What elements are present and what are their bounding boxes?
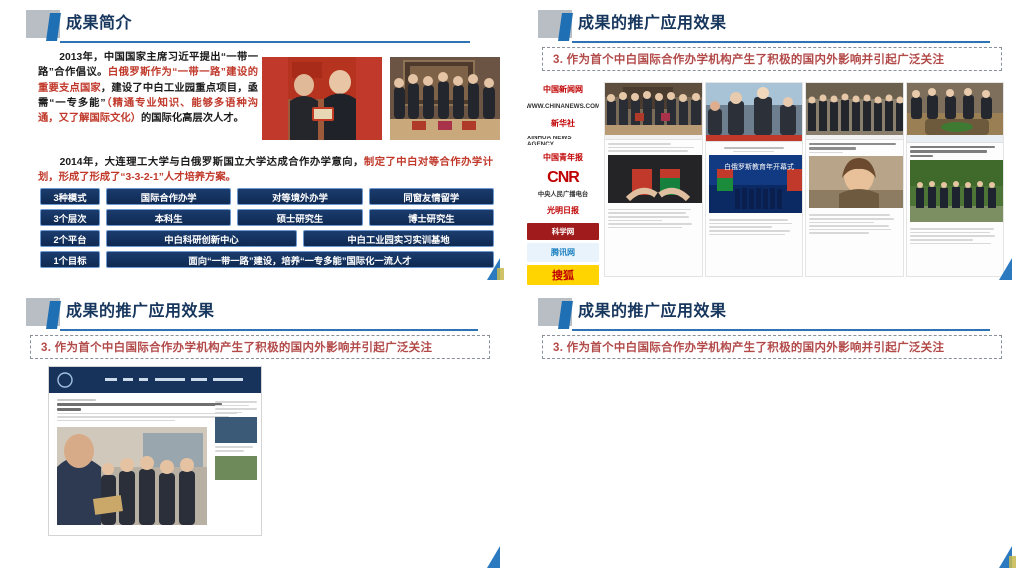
news-clipping-1 xyxy=(604,82,703,277)
news-text-lines-3b xyxy=(806,211,903,234)
news-text-lines-4b xyxy=(907,225,1004,244)
header-rule xyxy=(572,329,990,331)
news-thumb-1-svg xyxy=(608,155,703,203)
subtitle-text: 3. 作为首个中白国际合作办学机构产生了积极的国内外影响并引起广泛关注 xyxy=(543,339,944,355)
cell-mode-3: 同窗友情留学 xyxy=(369,188,494,205)
bsu-website-screenshot xyxy=(48,366,262,536)
corner-arrow-decoration xyxy=(988,542,1018,572)
news-thumb-2-svg: 白俄罗斯教育年开幕式 xyxy=(709,155,804,213)
row-label-goal: 1个目标 xyxy=(40,251,100,268)
slide-4-header: 成果的推广应用效果 xyxy=(512,288,1024,330)
website-navbar xyxy=(49,367,261,393)
logo-cnr: CNR xyxy=(527,170,599,186)
photo-signing-ceremony-svg xyxy=(390,57,500,140)
news-photo-2-svg xyxy=(706,83,804,135)
row-label-platforms: 2个平台 xyxy=(40,230,100,247)
news-clipping-2: 白俄罗斯教育年开幕式 xyxy=(705,82,804,277)
slide-2-header: 成果的推广应用效果 xyxy=(512,0,1024,42)
bsu-visit-photo-svg xyxy=(57,427,207,525)
logo-china-news-label: 中国新闻网 xyxy=(543,84,583,95)
logo-china-youth-daily-label: 中国青年报 xyxy=(543,152,583,163)
news-text-lines-2 xyxy=(706,142,803,152)
news-clippings-grid: 白俄罗斯教育年开幕式 xyxy=(604,82,1004,277)
slide-4: 成果的推广应用效果 3. 作为首个中白国际合作办学机构产生了积极的国内外影响并引… xyxy=(512,288,1024,576)
corner-accent-icon xyxy=(497,268,504,280)
table-row: 3个层次 本科生 硕士研究生 博士研究生 xyxy=(40,209,500,226)
row-label-levels: 3个层次 xyxy=(40,209,100,226)
news-text-lines-3 xyxy=(806,140,903,153)
cell-goal-1: 面向“一带一路”建设，培养“一专多能”国际化一流人才 xyxy=(106,251,494,268)
cell-platform-1: 中白科研创新中心 xyxy=(106,230,297,247)
news-thumb-4 xyxy=(910,160,1001,222)
corner-arrow-decoration xyxy=(476,542,506,572)
bsu-visit-photo xyxy=(57,427,207,525)
news-browser-bar-4 xyxy=(907,135,1004,143)
news-photo-2 xyxy=(706,83,803,135)
slide-deck: 成果简介 2013年，中国国家主席习近平提出“一带一路”合作倡议。白俄罗斯作为“… xyxy=(0,0,1024,576)
slide-2: 成果的推广应用效果 3. 作为首个中白国际合作办学机构产生了积极的国内外影响并引… xyxy=(512,0,1024,288)
news-text-lines-4 xyxy=(907,143,1004,157)
subtitle-box: 3. 作为首个中白国际合作办学机构产生了积极的国内外影响并引起广泛关注 xyxy=(542,335,1002,359)
para1-seg4: 的国际化高层次人才。 xyxy=(141,113,244,124)
header-rule xyxy=(572,41,990,43)
slide-1: 成果简介 2013年，中国国家主席习近平提出“一带一路”合作倡议。白俄罗斯作为“… xyxy=(0,0,512,288)
photo-xi-lukashenko-svg xyxy=(262,57,382,140)
intro-paragraph-2: 2014年，大连理工大学与白俄罗斯国立大学达成合作办学意向，制定了中白对等合作办… xyxy=(38,155,493,186)
subtitle-text: 3. 作为首个中白国际合作办学机构产生了积极的国内外影响并引起广泛关注 xyxy=(543,51,944,67)
website-navbar-svg xyxy=(49,367,261,393)
news-photo-3 xyxy=(806,83,903,135)
logo-tencent: 腾讯网 xyxy=(527,243,599,262)
svg-text:白俄罗斯教育年开幕式: 白俄罗斯教育年开幕式 xyxy=(724,162,794,171)
news-photo-1-svg xyxy=(605,83,703,135)
slide-3-header: 成果的推广应用效果 xyxy=(0,288,512,330)
page-title: 成果的推广应用效果 xyxy=(578,297,727,321)
logo-china-news: 中国新闻网 xyxy=(527,80,599,99)
corner-accent-icon xyxy=(1009,556,1016,568)
cell-level-1: 本科生 xyxy=(106,209,231,226)
logo-guangming-daily: 光明日报 xyxy=(527,201,599,220)
news-text-lines-1 xyxy=(605,140,702,152)
talent-plan-table: 3种模式 国际合作办学 对等境外办学 同窗友情留学 3个层次 本科生 硕士研究生… xyxy=(40,188,500,272)
subtitle-text: 3. 作为首个中白国际合作办学机构产生了积极的国内外影响并引起广泛关注 xyxy=(31,339,432,355)
logo-cnr-sub: 中央人民广播电台 xyxy=(527,189,599,198)
page-title: 成果简介 xyxy=(66,9,132,33)
logo-china-news-sub: WWW.CHINANEWS.COM xyxy=(527,102,599,111)
website-sidebar xyxy=(215,401,257,484)
header-rule xyxy=(60,41,470,43)
intro-paragraph-1: 2013年，中国国家主席习近平提出“一带一路”合作倡议。白俄罗斯作为“一带一路”… xyxy=(38,50,258,126)
cell-level-2: 硕士研究生 xyxy=(237,209,362,226)
cell-platform-2: 中白工业园实习实训基地 xyxy=(303,230,494,247)
logo-xinhua: 新华社 xyxy=(527,114,599,133)
news-photo-4 xyxy=(907,83,1004,135)
table-row: 1个目标 面向“一带一路”建设，培养“一专多能”国际化一流人才 xyxy=(40,251,500,268)
news-text-lines-2b xyxy=(706,216,803,235)
subtitle-box: 3. 作为首个中白国际合作办学机构产生了积极的国内外影响并引起广泛关注 xyxy=(30,335,490,359)
cell-level-3: 博士研究生 xyxy=(369,209,494,226)
logo-xinhua-label: 新华社 xyxy=(551,118,575,129)
news-clipping-4 xyxy=(906,82,1005,277)
news-thumb-1 xyxy=(608,155,699,203)
logo-china-youth-daily: 中国青年报 xyxy=(527,148,599,167)
logo-xinhua-sub: XINHUA NEWS AGENCY xyxy=(527,136,599,145)
para2-seg0: 2014年，大连理工大学与白俄罗斯国立大学达成合作办学意向， xyxy=(38,157,364,168)
header-rule xyxy=(60,329,478,331)
corner-triangle-icon xyxy=(999,258,1012,280)
page-title: 成果的推广应用效果 xyxy=(578,9,727,33)
news-clipping-3 xyxy=(805,82,904,277)
row-label-modes: 3种模式 xyxy=(40,188,100,205)
page-title: 成果的推广应用效果 xyxy=(66,297,215,321)
logo-sciencenet: 科学网 xyxy=(527,223,599,240)
news-thumb-4-svg xyxy=(910,160,1005,222)
cell-mode-2: 对等境外办学 xyxy=(237,188,362,205)
subtitle-box: 3. 作为首个中白国际合作办学机构产生了积极的国内外影响并引起广泛关注 xyxy=(542,47,1002,71)
cell-mode-1: 国际合作办学 xyxy=(106,188,231,205)
slide-3: 成果的推广应用效果 3. 作为首个中白国际合作办学机构产生了积极的国内外影响并引… xyxy=(0,288,512,576)
photo-signing-ceremony xyxy=(390,57,500,140)
news-thumb-2: 白俄罗斯教育年开幕式 xyxy=(709,155,800,213)
news-text-lines-1b xyxy=(605,206,702,229)
news-photo-4-svg xyxy=(907,83,1005,135)
news-thumb-3-svg xyxy=(809,156,904,208)
news-photo-1 xyxy=(605,83,702,135)
news-photo-3-svg xyxy=(806,83,904,135)
corner-arrow-decoration xyxy=(476,254,506,284)
slide-1-header: 成果简介 xyxy=(0,0,512,42)
table-row: 3种模式 国际合作办学 对等境外办学 同窗友情留学 xyxy=(40,188,500,205)
news-thumb-3 xyxy=(809,156,900,208)
table-row: 2个平台 中白科研创新中心 中白工业园实习实训基地 xyxy=(40,230,500,247)
corner-triangle-icon xyxy=(487,546,500,568)
corner-arrow-decoration xyxy=(988,254,1018,284)
news-browser-bar-2 xyxy=(706,135,803,142)
media-logo-column: 中国新闻网 WWW.CHINANEWS.COM 新华社 XINHUA NEWS … xyxy=(527,80,599,288)
photo-xi-lukashenko xyxy=(262,57,382,140)
logo-sohu: 搜狐 xyxy=(527,265,599,285)
